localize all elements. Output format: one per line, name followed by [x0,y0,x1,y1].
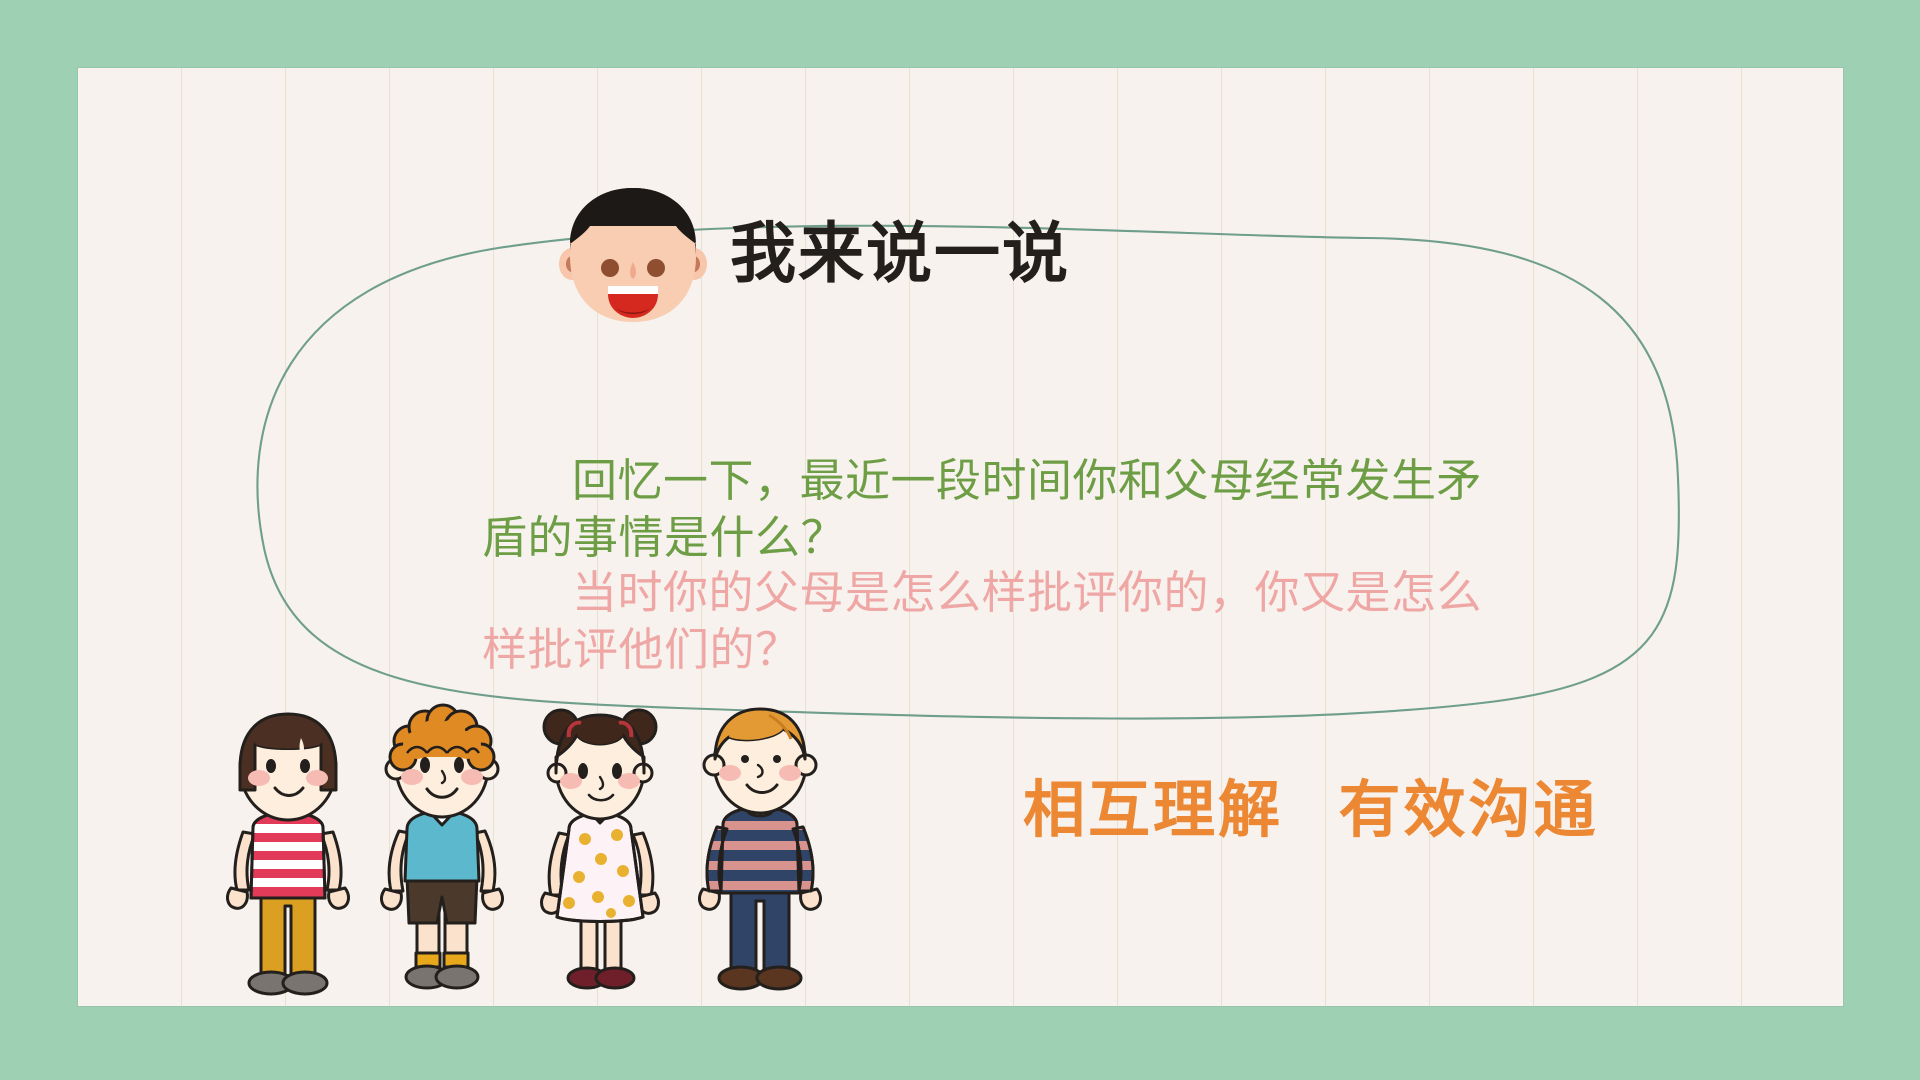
child-boy-curly-teal [365,701,520,1006]
four-children-illustration [213,676,873,1006]
paragraph-question-criticism: 当时你的父母是怎么样批评你的，你又是怎么样批评他们的？ [482,565,1492,678]
slide-root: 我来说一说 回忆一下，最近一段时间你和父母经常发生矛盾的事情是什么？ 当时你的父… [0,0,1920,1080]
boy-face-icon [558,186,708,324]
paragraph-question-conflict: 回忆一下，最近一段时间你和父母经常发生矛盾的事情是什么？ [482,453,1492,566]
child-boy-striped-sweater [683,701,838,1006]
slide-panel: 我来说一说 回忆一下，最近一段时间你和父母经常发生矛盾的事情是什么？ 当时你的父… [78,68,1843,1006]
child-girl-buns-dotted-dress [523,701,678,1006]
child-girl-bob-striped [213,706,363,1006]
header: 我来说一说 [558,186,1070,324]
slogan-text: 相互理解 有效沟通 [1023,780,1599,842]
page-title: 我来说一说 [730,222,1070,288]
